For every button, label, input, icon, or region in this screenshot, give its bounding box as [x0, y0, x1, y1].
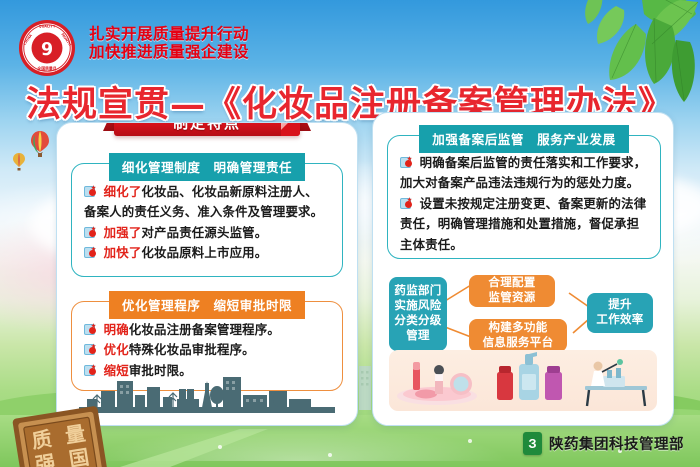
- svg-text:量: 量: [64, 421, 88, 448]
- list-item: 设置未按规定注册变更、备案更新的法律责任，明确管理措施和处置措施，督促承担主体责…: [400, 194, 648, 255]
- right-section-1-header: 加强备案后监管 服务产业发展: [419, 125, 628, 153]
- item-text: 特殊化妆品审批程序。: [129, 343, 255, 357]
- left-panel: 制定特点 细化管理制度 明确管理责任 细化了化妆品、化妆品新原料注册人、备案人的…: [56, 122, 358, 426]
- item-text: 化妆品注册备案管理程序。: [129, 323, 280, 337]
- item-text: 设置未按规定注册变更、备案更新的法律责任，明确管理措施和处置措施，督促承担主体责…: [400, 197, 646, 252]
- bullet-icon: [84, 343, 97, 355]
- bullet-icon: [84, 323, 97, 335]
- list-item: 加快了化妆品原料上市应用。: [84, 243, 330, 263]
- flow-node-3-label: 构建多功能 信息服务平台: [483, 321, 554, 351]
- highlight-text: 加快了: [104, 246, 142, 260]
- ribbon-label: 制定特点: [173, 122, 241, 133]
- right-section-1: 加强备案后监管 服务产业发展 明确备案后监管的责任落实和工作要求，加大对备案产品…: [387, 135, 661, 259]
- svg-text:质: 质: [30, 426, 54, 453]
- item-text: 对产品责任源头监管。: [141, 226, 267, 240]
- ribbon-fold-icon: [281, 122, 300, 136]
- highlight-text: 明确: [104, 323, 129, 337]
- brand-mark-icon: З: [523, 432, 542, 455]
- highlight-text: 加强了: [104, 226, 142, 240]
- flow-node-1-label: 药监部门 实施风险 分类分级 管理: [394, 284, 441, 344]
- svg-text:QUALITY: QUALITY: [39, 25, 56, 29]
- svg-text:强: 强: [34, 450, 58, 467]
- footer-brand: З 陕药集团科技管理部: [523, 432, 684, 455]
- right-panel: 加强备案后监管 服务产业发展 明确备案后监管的责任落实和工作要求，加大对备案产品…: [372, 112, 674, 426]
- poster-canvas: 9 QUALITY CHINA MONTH 全国质量月 扎实开展质量提升行动 加…: [0, 0, 700, 467]
- bullet-icon: [84, 226, 97, 238]
- svg-text:全国质量月: 全国质量月: [36, 66, 56, 71]
- brand-name: 陕药集团科技管理部: [549, 433, 684, 454]
- flow-node-1: 药监部门 实施风险 分类分级 管理: [389, 277, 447, 351]
- slogan-block: 扎实开展质量提升行动 加快推进质量强企建设: [89, 26, 249, 63]
- bullet-icon: [400, 197, 413, 209]
- hot-air-balloon-icon: [29, 130, 51, 160]
- highlight-text: 优化: [104, 343, 129, 357]
- left-section-1-header: 细化管理制度 明确管理责任: [109, 153, 305, 181]
- bullet-icon: [84, 246, 97, 258]
- list-item: 加强了对产品责任源头监管。: [84, 223, 330, 243]
- flow-diagram: 药监部门 实施风险 分类分级 管理 合理配置 监管资源 构建多功能 信息服务平台…: [383, 275, 665, 353]
- cosmetics-illustration-icon: [389, 350, 657, 411]
- bullet-icon: [84, 185, 97, 197]
- slogan-line-1: 扎实开展质量提升行动: [89, 26, 249, 44]
- flow-node-4: 提升 工作效率: [587, 293, 653, 333]
- list-item: 细化了化妆品、化妆品新原料注册人、备案人的责任义务、准入条件及管理要求。: [84, 182, 330, 223]
- list-item: 明确备案后监管的责任落实和工作要求，加大对备案产品违法违规行为的惩处力度。: [400, 153, 648, 194]
- list-item: 明确化妆品注册备案管理程序。: [84, 320, 330, 340]
- left-section-1: 细化管理制度 明确管理责任 细化了化妆品、化妆品新原料注册人、备案人的责任义务、…: [71, 163, 343, 277]
- bullet-icon: [400, 156, 413, 168]
- product-illustration-strip: [389, 350, 657, 411]
- slogan-line-2: 加快推进质量强企建设: [89, 44, 249, 62]
- flow-node-3: 构建多功能 信息服务平台: [469, 319, 567, 352]
- item-text: 化妆品原料上市应用。: [141, 246, 267, 260]
- svg-text:9: 9: [41, 40, 53, 60]
- left-section-2-header: 优化管理程序 缩短审批时限: [109, 291, 305, 319]
- flow-node-4-label: 提升 工作效率: [596, 298, 643, 328]
- highlight-text: 细化了: [104, 185, 142, 199]
- hot-air-balloon-icon: [12, 152, 26, 172]
- quality-month-emblem-icon: 9 QUALITY CHINA MONTH 全国质量月: [18, 19, 76, 77]
- flow-node-2: 合理配置 监管资源: [469, 275, 555, 307]
- item-text: 明确备案后监管的责任落实和工作要求，加大对备案产品违法违规行为的惩处力度。: [400, 156, 646, 190]
- svg-text:国: 国: [67, 445, 91, 467]
- wooden-seal-stamp-icon: 质 量 强 国: [12, 404, 132, 467]
- list-item: 优化特殊化妆品审批程序。: [84, 340, 330, 360]
- ribbon-banner: 制定特点: [114, 122, 300, 136]
- flow-node-2-label: 合理配置 监管资源: [488, 276, 535, 306]
